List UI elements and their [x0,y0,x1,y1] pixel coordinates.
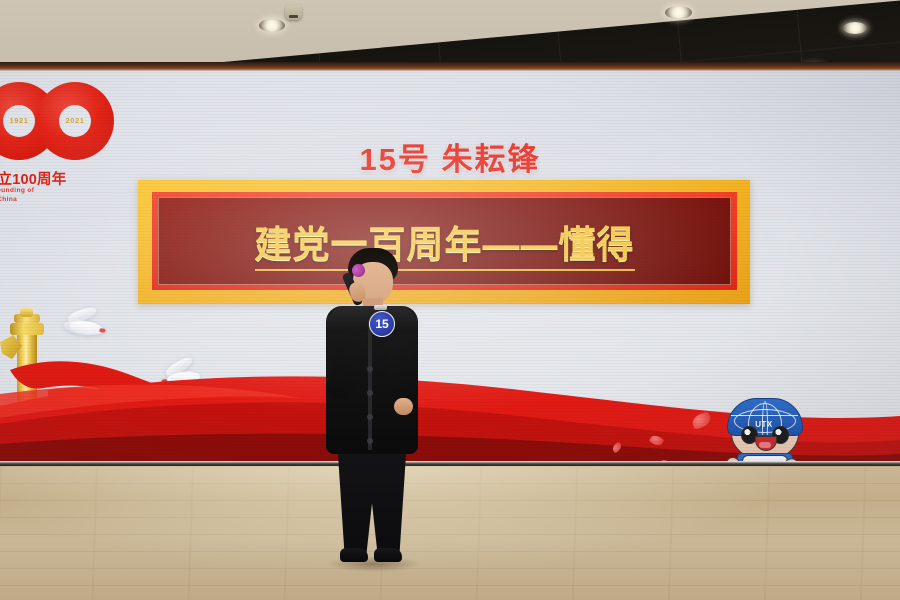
stage-scene: 1921 2021 国共产党成立100周年 Anniversary of the… [0,0,900,600]
speaker-number-badge: 15 [369,311,395,337]
speaker-person: 15 [312,248,432,578]
ceiling-downlight [259,19,285,32]
speaker-shoe [340,548,368,562]
smoke-detector-icon [285,5,302,20]
ceiling-downlight [843,22,867,34]
led-backdrop-screen: 1921 2021 国共产党成立100周年 Anniversary of the… [0,62,900,466]
speaker-right-hand [394,398,413,415]
speaker-shoe [374,548,402,562]
led-screen-top-edge [0,62,900,71]
speaker-trousers [336,446,408,556]
stage-floor [0,466,900,600]
ceiling-downlight [665,6,692,19]
